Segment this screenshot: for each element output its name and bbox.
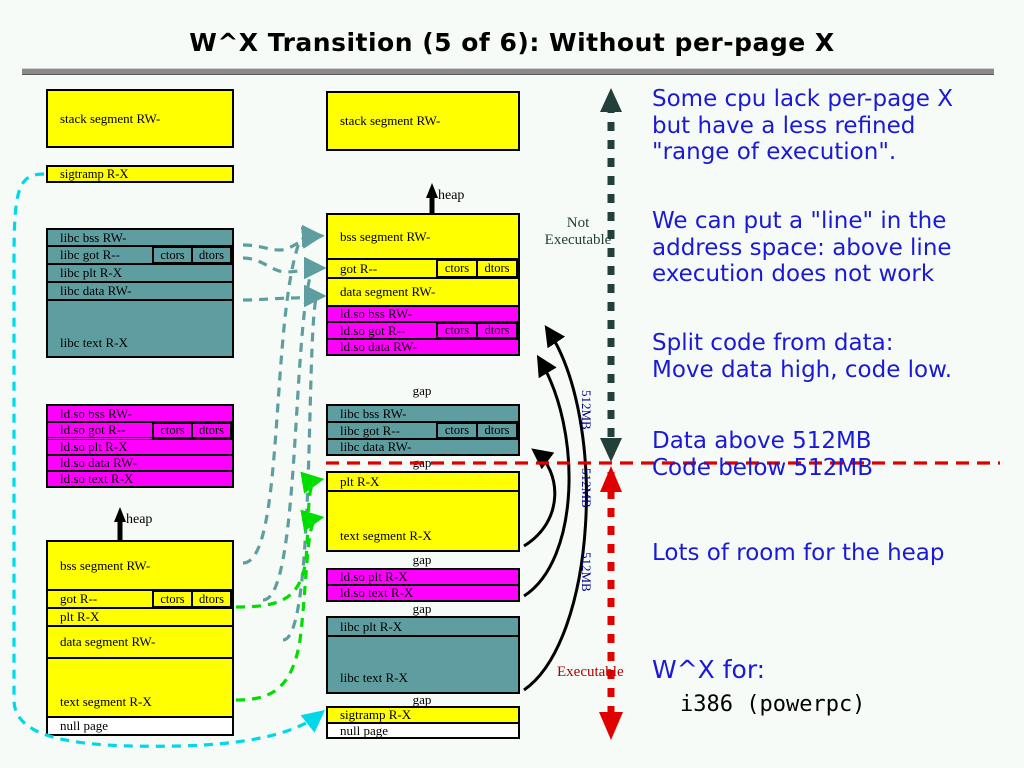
left-main-ctors-label: ctors	[154, 592, 193, 606]
left-libc-bss-row: libc bss RW-	[48, 230, 232, 246]
gap-label-2: gap	[390, 455, 454, 471]
left-ldso-ctors-label: ctors	[154, 424, 193, 437]
left-heap-label: heap	[126, 512, 152, 528]
note-1-line-1: Some cpu lack per-page X	[652, 86, 1012, 113]
left-nullpage-label: null page	[60, 718, 108, 734]
left-stack-label: stack segment RW-	[60, 111, 160, 127]
mid-libc-data-row: libc data RW-	[328, 439, 518, 454]
mid-libc-got-label: libc got R--	[340, 423, 400, 439]
mid-ldso-data-row: ld.so data RW-	[328, 339, 518, 354]
left-plt-row: plt R-X	[48, 608, 232, 626]
note-2-line-2: address space: above line	[652, 235, 1012, 262]
mid-bss-label: bss segment RW-	[340, 229, 430, 245]
not-executable-arrowhead	[600, 88, 622, 112]
left-sigtramp-segment: sigtramp R-X	[46, 165, 234, 183]
note-1-line-3: "range of execution".	[652, 139, 1012, 166]
mid-main-ctors-dtors: ctors dtors	[436, 259, 518, 278]
mid-libc-plt-row: libc plt R-X	[328, 618, 518, 636]
left-ldso-data-label: ld.so data RW-	[60, 455, 137, 471]
left-ldso-text-label: ld.so text R-X	[60, 471, 133, 486]
left-libc-bss-label: libc bss RW-	[60, 230, 126, 246]
mid-heap-label: heap	[438, 188, 464, 204]
left-ldso-bss-row: ld.so bss RW-	[48, 406, 232, 422]
left-libc-got-label: libc got R--	[60, 247, 120, 263]
note-5-line-1: Lots of room for the heap	[652, 540, 1012, 567]
mid-libc-text-row: libc text R-X	[328, 636, 518, 692]
not-executable-line-1: Not	[537, 215, 619, 232]
left-libc-plt-label: libc plt R-X	[60, 265, 122, 281]
arch-label: i386 (powerpc)	[680, 692, 865, 717]
left-bss-row: bss segment RW-	[48, 542, 232, 590]
mid-data-group: bss segment RW- got R-- ctors dtors data…	[326, 213, 520, 356]
left-ldso-bss-label: ld.so bss RW-	[60, 406, 132, 422]
left-main-group: bss segment RW- got R-- ctors dtors plt …	[46, 540, 234, 736]
left-libc-ctors-dtors: ctors dtors	[152, 246, 232, 264]
executable-arrowhead-up	[600, 466, 622, 492]
left-ldso-ctors-dtors: ctors dtors	[152, 422, 232, 439]
mid-libc-code-group: libc plt R-X libc text R-X	[326, 616, 520, 694]
not-executable-label: Not Executable	[537, 215, 619, 249]
mid-stack-segment: stack segment RW-	[326, 91, 520, 151]
mid-ldso-code-group: ld.so plt R-X ld.so text R-X	[326, 568, 520, 602]
mid-ldso-bss-row: ld.so bss RW-	[328, 306, 518, 322]
left-text-row: text segment R-X	[48, 658, 232, 717]
left-ldso-data-row: ld.so data RW-	[48, 455, 232, 471]
mid-main-ctors-label: ctors	[438, 261, 478, 276]
label-512mb-2: 512MB	[578, 468, 594, 508]
page-title: W^X Transition (5 of 6): Without per-pag…	[0, 28, 1024, 57]
note-3-line-2: Move data high, code low.	[652, 357, 1012, 384]
mid-main-dtors-label: dtors	[478, 261, 516, 276]
left-ldso-plt-row: ld.so plt R-X	[48, 439, 232, 455]
mid-libc-text-label: libc text R-X	[340, 670, 408, 686]
label-512mb-1: 512MB	[578, 390, 594, 430]
segment-pairing-arrows	[524, 330, 586, 690]
mid-libc-bss-row: libc bss RW-	[328, 406, 518, 422]
left-main-ctors-dtors: ctors dtors	[152, 590, 232, 608]
note-1-line-2: but have a less refined	[652, 113, 1012, 140]
mid-got-label: got R--	[340, 261, 377, 277]
mid-ldso-data-label: ld.so data RW-	[340, 339, 417, 354]
note-5: Lots of room for the heap	[652, 540, 1012, 567]
left-ldso-text-row: ld.so text R-X	[48, 471, 232, 486]
mid-plt-label: plt R-X	[340, 474, 379, 490]
wx-for-label: W^X for:	[652, 655, 765, 684]
mid-libc-ctors-dtors: ctors dtors	[436, 422, 518, 439]
label-512mb-3: 512MB	[578, 552, 594, 592]
note-2-line-1: We can put a "line" in the	[652, 208, 1012, 235]
mid-ldso-plt-label: ld.so plt R-X	[340, 570, 408, 585]
left-libc-data-label: libc data RW-	[60, 283, 131, 299]
gap-label-3: gap	[390, 552, 454, 568]
heap-arrowhead-mid	[426, 183, 438, 198]
mid-ldso-ctors-dtors: ctors dtors	[436, 322, 518, 339]
left-libc-dtors-label: dtors	[193, 248, 230, 262]
not-executable-line-2: Executable	[537, 232, 619, 249]
code-link-arrows	[236, 480, 318, 700]
title-divider	[22, 68, 994, 75]
mid-plt-row: plt R-X	[328, 473, 518, 491]
mid-sigtramp-label: sigtramp R-X	[340, 708, 411, 723]
left-ldso-group: ld.so bss RW- ld.so got R-- ctors dtors …	[46, 404, 234, 488]
heap-arrowhead-left	[114, 507, 126, 522]
mid-ldso-ctors2-label: ctors	[438, 324, 478, 337]
left-text-label: text segment R-X	[60, 694, 152, 710]
mid-libc-data-label: libc data RW-	[340, 439, 411, 454]
mid-nullpage-label: null page	[340, 723, 388, 737]
left-libc-plt-row: libc plt R-X	[48, 264, 232, 282]
left-ldso-plt-label: ld.so plt R-X	[60, 439, 128, 455]
mid-main-code-group: plt R-X text segment R-X	[326, 471, 520, 552]
left-ldso-dtors-label: dtors	[193, 424, 230, 437]
not-executable-arrowhead-down	[600, 438, 622, 462]
mid-ldso-dtors2-label: dtors	[478, 324, 516, 337]
executable-label: Executable	[557, 664, 624, 681]
note-4-line-2: Code below 512MB	[652, 455, 1012, 482]
mid-ldso-plt-row: ld.so plt R-X	[328, 570, 518, 585]
data-link-arrows	[243, 236, 320, 640]
left-bss-label: bss segment RW-	[60, 558, 150, 574]
mid-bss-row: bss segment RW-	[328, 215, 518, 259]
mid-ldso-text-row: ld.so text R-X	[328, 585, 518, 600]
note-3-line-1: Split code from data:	[652, 330, 1012, 357]
left-data-label: data segment RW-	[60, 634, 155, 650]
left-libc-text-row: libc text R-X	[48, 300, 232, 356]
left-libc-ctors-label: ctors	[154, 248, 193, 262]
mid-libc-plt-label: libc plt R-X	[340, 619, 402, 635]
note-4: Data above 512MB Code below 512MB	[652, 428, 1012, 481]
note-4-line-1: Data above 512MB	[652, 428, 1012, 455]
mid-sigtramp-row: sigtramp R-X	[328, 708, 518, 723]
mid-stack-label: stack segment RW-	[340, 113, 440, 129]
mid-data-label: data segment RW-	[340, 284, 435, 300]
left-libc-group: libc bss RW- libc got R-- ctors dtors li…	[46, 228, 234, 358]
mid-ldso-text-label: ld.so text R-X	[340, 585, 413, 600]
left-sigtramp-label: sigtramp R-X	[60, 167, 128, 182]
left-got-label: got R--	[60, 591, 97, 607]
left-ldso-got-label: ld.so got R--	[60, 422, 125, 438]
note-2: We can put a "line" in the address space…	[652, 208, 1012, 288]
note-1: Some cpu lack per-page X but have a less…	[652, 86, 1012, 166]
left-libc-data-row: libc data RW-	[48, 282, 232, 300]
left-data-row: data segment RW-	[48, 626, 232, 658]
mid-libc-data-group: libc bss RW- libc got R-- ctors dtors li…	[326, 404, 520, 456]
mid-text-label: text segment R-X	[340, 528, 432, 544]
mid-data-row: data segment RW-	[328, 278, 518, 306]
executable-arrowhead-down	[599, 712, 623, 740]
gap-label-4: gap	[390, 601, 454, 617]
mid-libc-bss-label: libc bss RW-	[340, 406, 406, 422]
left-stack-segment: stack segment RW-	[46, 89, 234, 148]
gap-label-1: gap	[390, 383, 454, 399]
mid-bottom-group: sigtramp R-X null page	[326, 706, 520, 739]
left-libc-text-label: libc text R-X	[60, 335, 128, 351]
mid-ldso-got-label: ld.so got R--	[340, 323, 405, 339]
note-3: Split code from data: Move data high, co…	[652, 330, 1012, 383]
left-main-dtors-label: dtors	[193, 592, 230, 606]
mid-text-row: text segment R-X	[328, 491, 518, 550]
note-2-line-3: execution does not work	[652, 261, 1012, 288]
left-plt-label: plt R-X	[60, 609, 99, 625]
left-nullpage-row: null page	[48, 717, 232, 734]
mid-ldso-bss-label: ld.so bss RW-	[340, 306, 412, 322]
mid-libc-dtors-label: dtors	[478, 424, 516, 437]
mid-nullpage-row: null page	[328, 723, 518, 737]
mid-libc-ctors-label: ctors	[438, 424, 478, 437]
